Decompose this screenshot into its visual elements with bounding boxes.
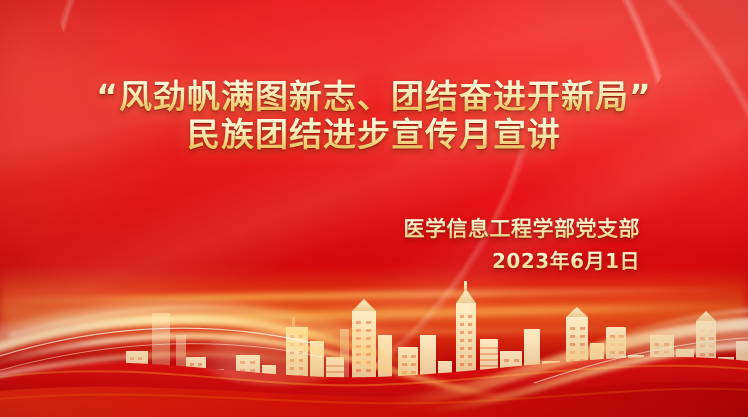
event-date: 2023年6月1日	[404, 247, 641, 276]
poster-canvas: “风劲帆满图新志、团结奋进开新局” 民族团结进步宣传月宣讲 医学信息工程学部党支…	[0, 0, 748, 417]
title-line-2: 民族团结进步宣传月宣讲	[0, 116, 748, 154]
text-layer: “风劲帆满图新志、团结奋进开新局” 民族团结进步宣传月宣讲 医学信息工程学部党支…	[0, 0, 748, 417]
title-line-1: “风劲帆满图新志、团结奋进开新局”	[0, 78, 748, 116]
subtitle-block: 医学信息工程学部党支部 2023年6月1日	[404, 214, 641, 276]
page-title: “风劲帆满图新志、团结奋进开新局” 民族团结进步宣传月宣讲	[0, 78, 748, 155]
organization-name: 医学信息工程学部党支部	[404, 214, 641, 244]
